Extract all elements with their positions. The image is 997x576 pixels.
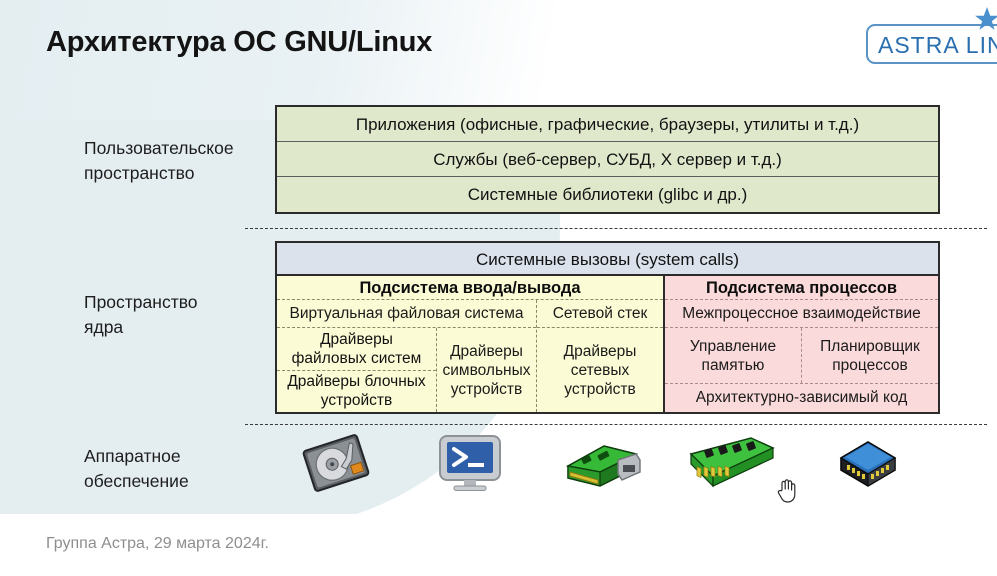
process-cell-memory-management: Управление памятью — [665, 328, 802, 383]
star-icon — [974, 6, 997, 32]
section-label-hardware-line1: Аппаратное — [84, 444, 189, 469]
io-cell-network-drivers: Драйверы сетевых устройств — [537, 328, 663, 412]
process-cell-arch-dependent-code: Архитектурно-зависимый код — [665, 384, 938, 412]
userspace-stack: Приложения (офисные, графические, браузе… — [275, 105, 940, 214]
process-cell-memory-line2: памятью — [702, 357, 765, 374]
hand-cursor — [776, 476, 798, 504]
kernel-row-system-calls: Системные вызовы (system calls) — [277, 243, 938, 276]
io-right-column: Сетевой стек Драйверы сетевых устройств — [537, 300, 663, 412]
section-label-hardware: Аппаратное обеспечение — [84, 444, 189, 494]
process-subsystem: Подсистема процессов Межпроцессное взаим… — [665, 276, 938, 412]
astra-linux-logo-text: ASTRA LINUX — [878, 32, 997, 59]
kernel-body: Подсистема ввода/вывода Виртуальная файл… — [277, 276, 938, 412]
hardware-icon-row — [290, 432, 940, 494]
footer-text: Группа Астра, 29 марта 2024г. — [46, 535, 269, 553]
io-fs-driver-column: Драйверы файловых систем Драйверы блочны… — [277, 328, 437, 412]
section-label-kernel-line2: ядра — [84, 315, 198, 340]
io-left-column: Виртуальная файловая система Драйверы фа… — [277, 300, 537, 412]
io-subsystem-title: Подсистема ввода/вывода — [277, 276, 663, 300]
process-cell-scheduler-line2: процессов — [832, 357, 908, 374]
hard-disk-drive-icon — [300, 432, 372, 494]
ram-module-icon — [685, 432, 777, 494]
io-cell-character-drivers-line2: символьных — [443, 362, 531, 379]
divider-kernel-hardware — [245, 424, 987, 425]
page-title: Архитектура ОС GNU/Linux — [46, 26, 432, 59]
io-cell-character-drivers-line1: Драйверы — [450, 343, 523, 360]
section-label-userspace-line1: Пользовательское — [84, 136, 234, 161]
io-cell-network-stack: Сетевой стек — [537, 300, 663, 328]
process-subsystem-title: Подсистема процессов — [665, 276, 938, 300]
section-label-userspace-line2: пространство — [84, 161, 234, 186]
io-cell-filesystem-drivers-line1: Драйверы — [320, 331, 393, 348]
section-label-kernel-line1: Пространство — [84, 290, 198, 315]
io-subsystem: Подсистема ввода/вывода Виртуальная файл… — [277, 276, 665, 412]
io-lower-row: Драйверы файловых систем Драйверы блочны… — [277, 328, 536, 412]
process-middle-row: Управление памятью Планировщик процессов — [665, 328, 938, 384]
cpu-chip-icon — [835, 432, 901, 494]
io-cell-block-drivers: Драйверы блочных устройств — [277, 371, 436, 413]
io-cell-block-drivers-line2: устройств — [321, 392, 392, 409]
process-cell-scheduler: Планировщик процессов — [802, 328, 938, 383]
io-cell-network-drivers-line2: сетевых — [571, 362, 630, 379]
io-cell-character-drivers-line3: устройств — [451, 381, 522, 398]
monitor-terminal-icon — [435, 432, 505, 494]
process-cell-memory-line1: Управление — [690, 338, 776, 355]
section-label-hardware-line2: обеспечение — [84, 469, 189, 494]
background-top-gradient — [0, 0, 700, 120]
network-card-icon — [560, 432, 644, 494]
io-cell-vfs: Виртуальная файловая система — [277, 300, 536, 328]
userspace-row-system-libraries: Системные библиотеки (glibc и др.) — [277, 177, 938, 212]
io-cell-network-drivers-line3: устройств — [564, 381, 635, 398]
divider-userspace-kernel — [245, 228, 987, 229]
process-cell-ipc: Межпроцессное взаимодействие — [665, 300, 938, 328]
io-cell-filesystem-drivers-line2: файловых систем — [292, 350, 422, 367]
section-label-userspace: Пользовательское пространство — [84, 136, 234, 186]
userspace-row-services: Службы (веб-сервер, СУБД, X сервер и т.д… — [277, 142, 938, 177]
io-cell-filesystem-drivers: Драйверы файловых систем — [277, 328, 436, 371]
io-subsystem-grid: Виртуальная файловая система Драйверы фа… — [277, 300, 663, 412]
section-label-kernel: Пространство ядра — [84, 290, 198, 340]
io-cell-character-drivers: Драйверы символьных устройств — [437, 328, 536, 412]
io-cell-block-drivers-line1: Драйверы блочных — [287, 373, 425, 390]
kernel-stack: Системные вызовы (system calls) Подсисте… — [275, 241, 940, 414]
userspace-row-applications: Приложения (офисные, графические, браузе… — [277, 107, 938, 142]
process-cell-scheduler-line1: Планировщик — [820, 338, 920, 355]
io-cell-network-drivers-line1: Драйверы — [564, 343, 637, 360]
